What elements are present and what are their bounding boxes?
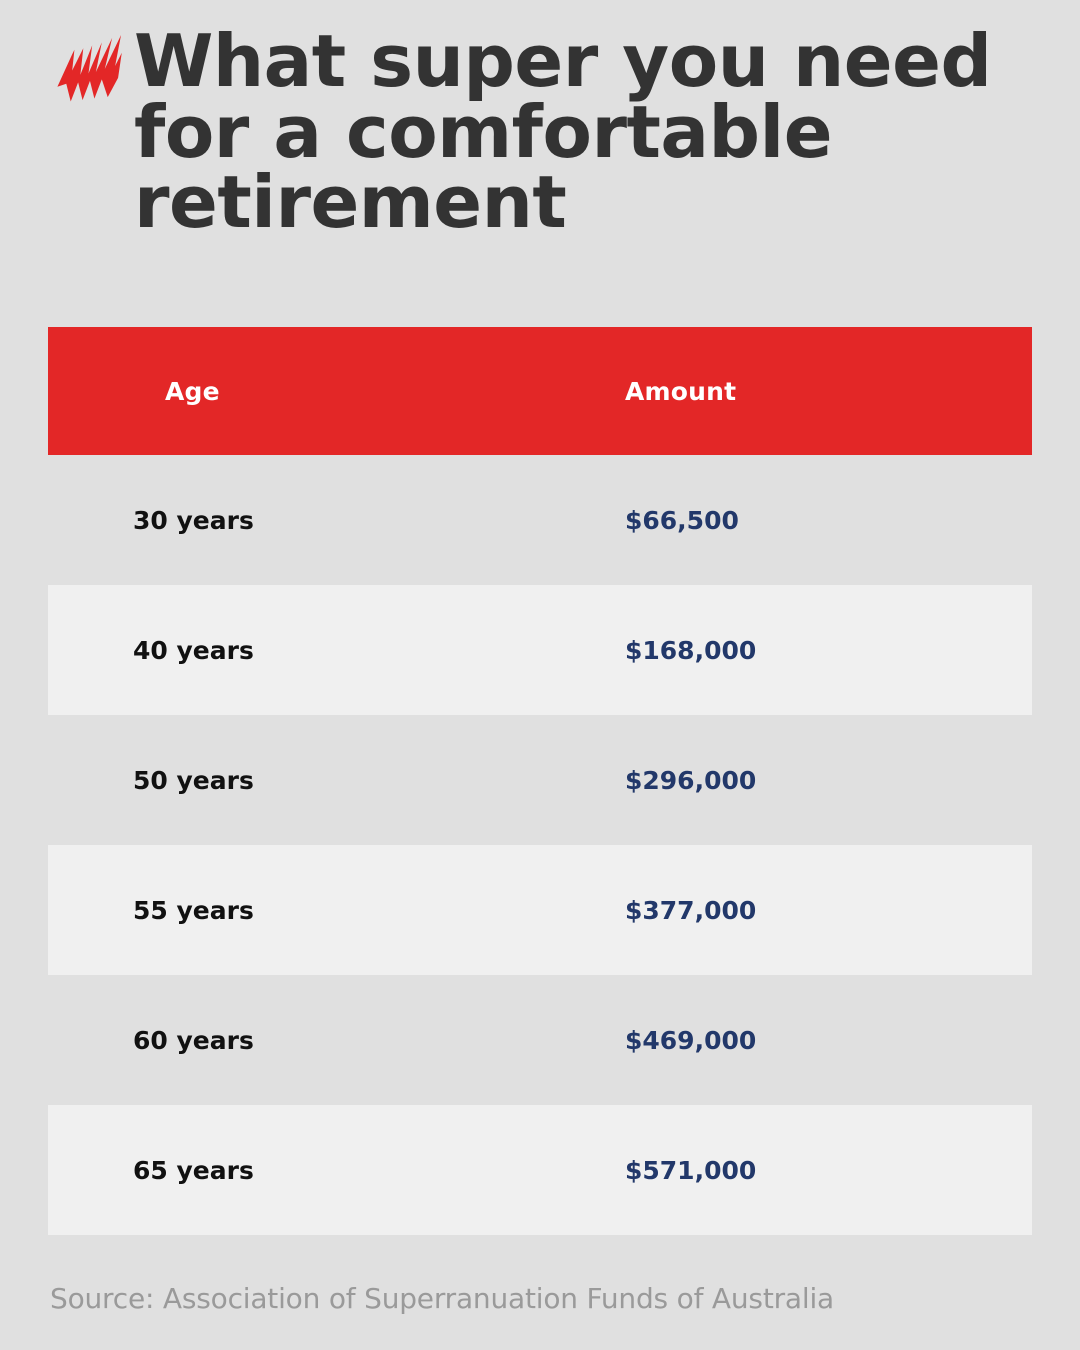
cell-amount: $469,000 [513,1026,1032,1055]
cell-amount: $168,000 [513,636,1032,665]
page-title-line-2: for a comfortable [134,97,992,168]
cell-amount: $296,000 [513,766,1032,795]
cell-age: 40 years [48,636,513,665]
table-header-row: Age Amount [48,327,1032,455]
page-header: What super you need for a comfortable re… [0,0,1080,310]
table-row: 40 years $168,000 [48,585,1032,715]
sbs-flame-logo-icon [50,32,124,106]
cell-age: 65 years [48,1156,513,1185]
cell-age: 30 years [48,506,513,535]
column-header-age: Age [48,377,513,406]
page-title: What super you need for a comfortable re… [134,26,992,238]
column-header-amount: Amount [513,377,1032,406]
page-title-line-1: What super you need [134,26,992,97]
cell-age: 60 years [48,1026,513,1055]
cell-amount: $66,500 [513,506,1032,535]
cell-age: 55 years [48,896,513,925]
super-balance-table: Age Amount 30 years $66,500 40 years $16… [48,327,1032,1235]
cell-age: 50 years [48,766,513,795]
table-row: 65 years $571,000 [48,1105,1032,1235]
page-title-line-3: retirement [134,167,992,238]
cell-amount: $571,000 [513,1156,1032,1185]
cell-amount: $377,000 [513,896,1032,925]
table-row: 55 years $377,000 [48,845,1032,975]
table-row: 60 years $469,000 [48,975,1032,1105]
table-row: 30 years $66,500 [48,455,1032,585]
source-attribution: Source: Association of Superranuation Fu… [50,1282,834,1315]
table-row: 50 years $296,000 [48,715,1032,845]
